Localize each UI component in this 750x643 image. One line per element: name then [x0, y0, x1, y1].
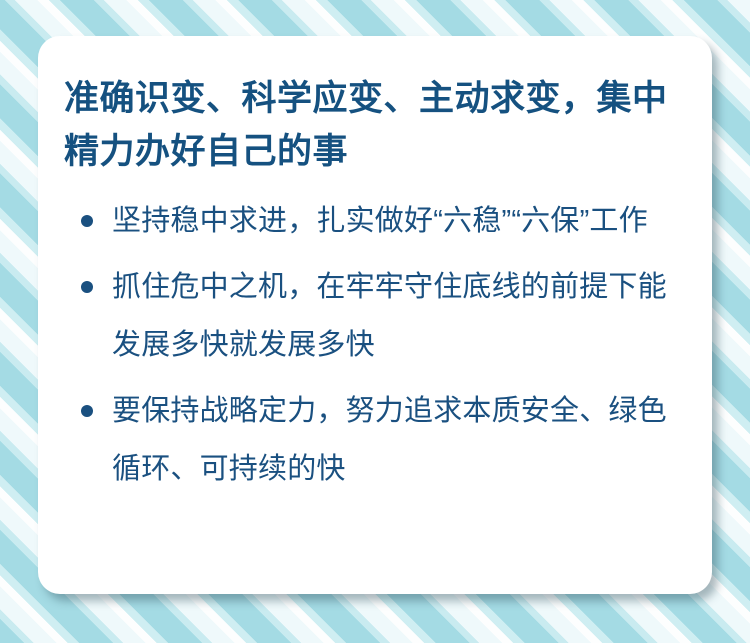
list-item: 坚持稳中求进，扎实做好“六稳”“六保”工作: [64, 192, 686, 250]
bullet-dot-icon: [81, 215, 93, 227]
list-item-label: 抓住危中之机，在牢牢守住底线的前提下能发展多快就发展多快: [112, 258, 686, 374]
content-card: 准确识变、科学应变、主动求变，集中精力办好自己的事 坚持稳中求进，扎实做好“六稳…: [38, 36, 712, 594]
bullet-dot-icon: [81, 281, 93, 293]
bullet-dot-icon: [81, 405, 93, 417]
poster-background: 准确识变、科学应变、主动求变，集中精力办好自己的事 坚持稳中求进，扎实做好“六稳…: [0, 0, 750, 643]
list-item-label: 要保持战略定力，努力追求本质安全、绿色循环、可持续的快: [112, 382, 686, 498]
list-item: 要保持战略定力，努力追求本质安全、绿色循环、可持续的快: [64, 382, 686, 498]
bullet-list: 坚持稳中求进，扎实做好“六稳”“六保”工作 抓住危中之机，在牢牢守住底线的前提下…: [64, 192, 686, 498]
page-title: 准确识变、科学应变、主动求变，集中精力办好自己的事: [64, 72, 686, 178]
list-item-label: 坚持稳中求进，扎实做好“六稳”“六保”工作: [112, 192, 686, 250]
list-item: 抓住危中之机，在牢牢守住底线的前提下能发展多快就发展多快: [64, 258, 686, 374]
